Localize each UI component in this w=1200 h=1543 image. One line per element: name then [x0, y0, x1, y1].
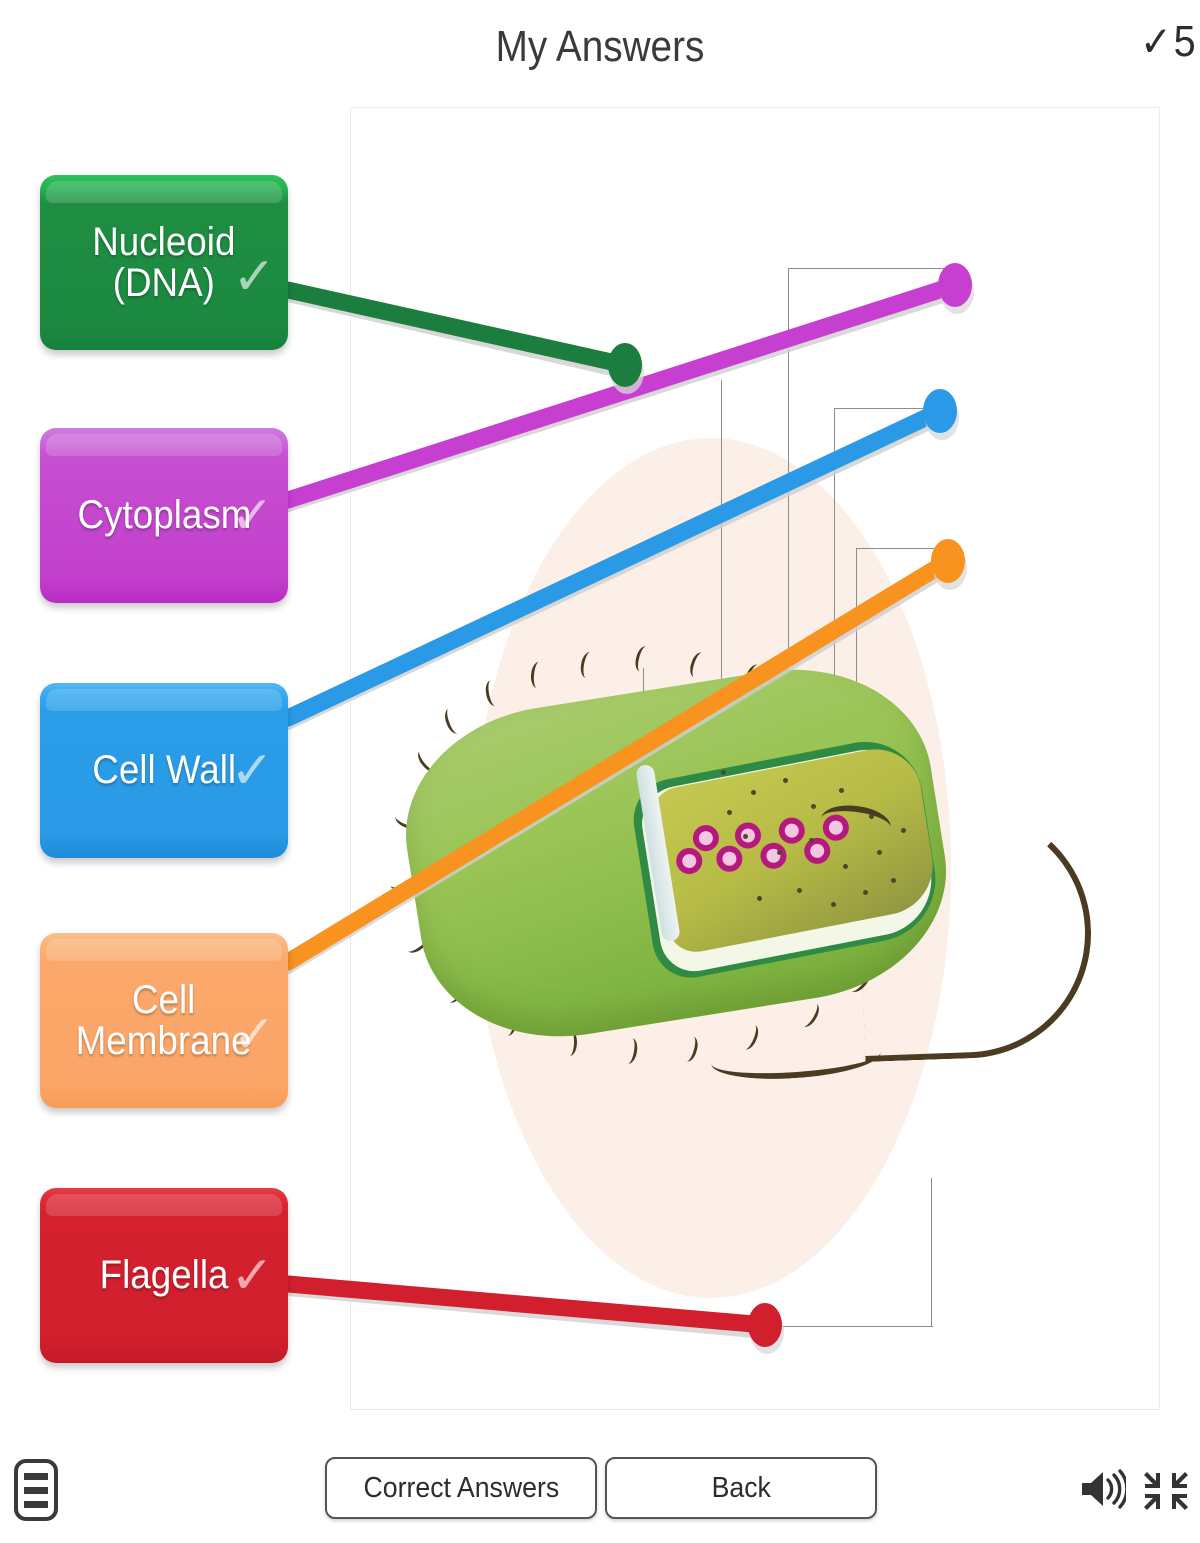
quiz-answers-screen: My Answers ✓5 [0, 0, 1200, 1543]
check-icon: ✓ [232, 251, 276, 303]
flagellum-tail [857, 804, 1096, 1062]
bacterium-illustration [391, 638, 991, 1108]
flagellum-lower-join [710, 1032, 882, 1084]
leader-line-5 [834, 408, 944, 409]
back-label: Back [711, 1472, 770, 1505]
back-button[interactable]: Back [605, 1457, 877, 1519]
speaker-icon[interactable] [1078, 1467, 1126, 1511]
answer-card-label: Cell Wall [83, 750, 245, 791]
exit-fullscreen-icon[interactable] [1142, 1467, 1190, 1515]
check-icon: ✓ [1140, 21, 1172, 63]
answer-card-cell-wall[interactable]: Cell Wall ✓ [40, 683, 288, 858]
answer-card-flagella[interactable]: Flagella ✓ [40, 1188, 288, 1363]
check-icon: ✓ [230, 745, 274, 797]
check-icon: ✓ [230, 1250, 274, 1302]
answer-card-label: Nucleoid (DNA) [83, 222, 245, 304]
faint-watermark-text [471, 186, 476, 198]
header: My Answers ✓5 [0, 0, 1200, 100]
bottom-toolbar: Correct Answers Back [0, 1433, 1200, 1543]
check-icon: ✓ [232, 1009, 276, 1061]
leader-line-2 [788, 268, 956, 269]
score-indicator: ✓5 [1140, 20, 1196, 64]
score-value: 5 [1174, 20, 1196, 64]
leader-line-8 [931, 1178, 932, 1326]
leader-line-9 [771, 1326, 933, 1327]
answer-card-cytoplasm[interactable]: Cytoplasm ✓ [40, 428, 288, 603]
page-title: My Answers [72, 22, 1128, 72]
diagram-frame [350, 107, 1160, 1410]
answer-card-label: Flagella [90, 1255, 237, 1296]
correct-answers-button[interactable]: Correct Answers [325, 1457, 597, 1519]
hamburger-menu-icon[interactable] [14, 1459, 58, 1521]
leader-line-7 [856, 548, 946, 549]
answer-card-cell-membrane[interactable]: Cell Membrane ✓ [40, 933, 288, 1108]
answer-card-nucleoid[interactable]: Nucleoid (DNA) ✓ [40, 175, 288, 350]
correct-answers-label: Correct Answers [363, 1472, 559, 1505]
check-icon: ✓ [230, 490, 274, 542]
